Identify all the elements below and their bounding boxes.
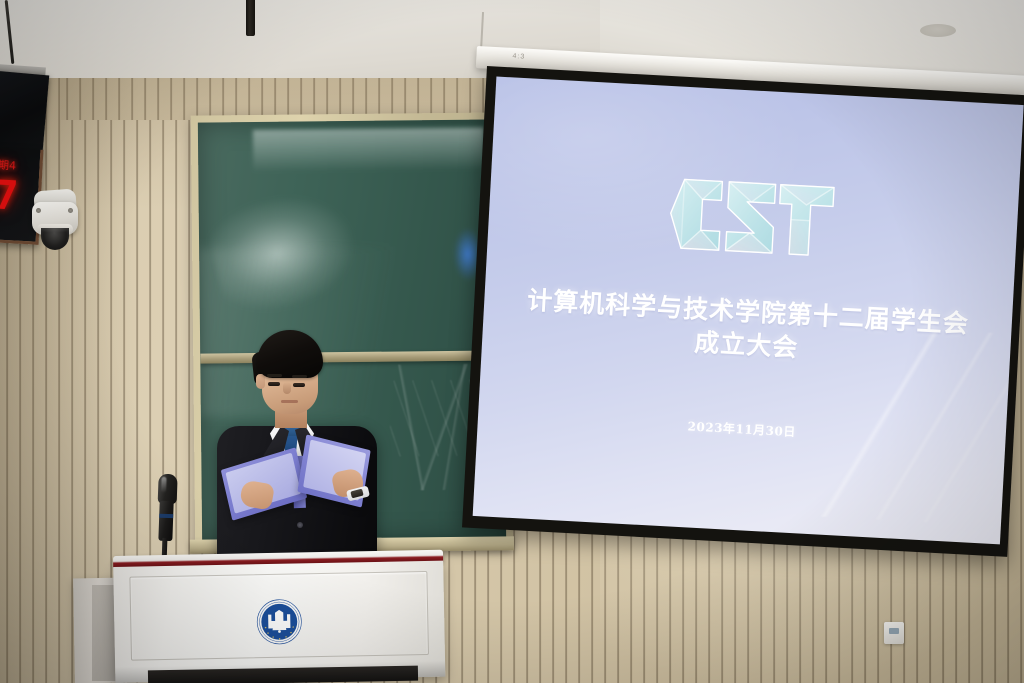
blackboard-glare-top xyxy=(253,128,484,172)
jacket-button xyxy=(297,522,303,528)
podium xyxy=(113,550,445,683)
eyebrow-right xyxy=(292,375,307,378)
cst-logo-icon xyxy=(665,161,842,274)
led-day-label: 日 星期4 xyxy=(0,158,16,171)
podium-body xyxy=(113,561,445,683)
projector-screen: 计算机科学与技术学院第十二届学生会 成立大会 2023年11月30日 xyxy=(462,66,1024,557)
camera-screw xyxy=(36,208,41,213)
mouth xyxy=(281,400,298,403)
microphone-ring xyxy=(159,514,173,518)
presentation-slide: 计算机科学与技术学院第十二届学生会 成立大会 2023年11月30日 xyxy=(473,77,1024,545)
ceiling-mount-rod xyxy=(246,0,255,36)
wall-outlet[interactable] xyxy=(884,622,904,644)
speaker-person xyxy=(205,330,405,580)
eye-left xyxy=(268,382,280,386)
led-clock-upper-panel xyxy=(0,69,49,153)
eye-right xyxy=(293,383,305,387)
lecture-hall-photo: 日 星期4 17 4:3 xyxy=(0,0,1024,683)
microphone-highlight xyxy=(161,477,167,493)
microphone-body xyxy=(158,501,173,541)
ear xyxy=(256,374,265,389)
eyebrow-left xyxy=(267,374,282,377)
camera-screw xyxy=(68,208,73,213)
camera-dome-lens-icon xyxy=(41,228,69,250)
outlet-slot-icon xyxy=(889,628,899,634)
screen-housing-label: 4:3 xyxy=(512,53,525,61)
slide-title: 计算机科学与技术学院第十二届学生会 成立大会 xyxy=(503,282,992,374)
ceiling-vent-icon xyxy=(920,24,956,37)
nose xyxy=(283,382,291,394)
security-camera xyxy=(28,188,86,256)
hair xyxy=(257,330,323,378)
university-emblem-icon xyxy=(256,598,303,645)
